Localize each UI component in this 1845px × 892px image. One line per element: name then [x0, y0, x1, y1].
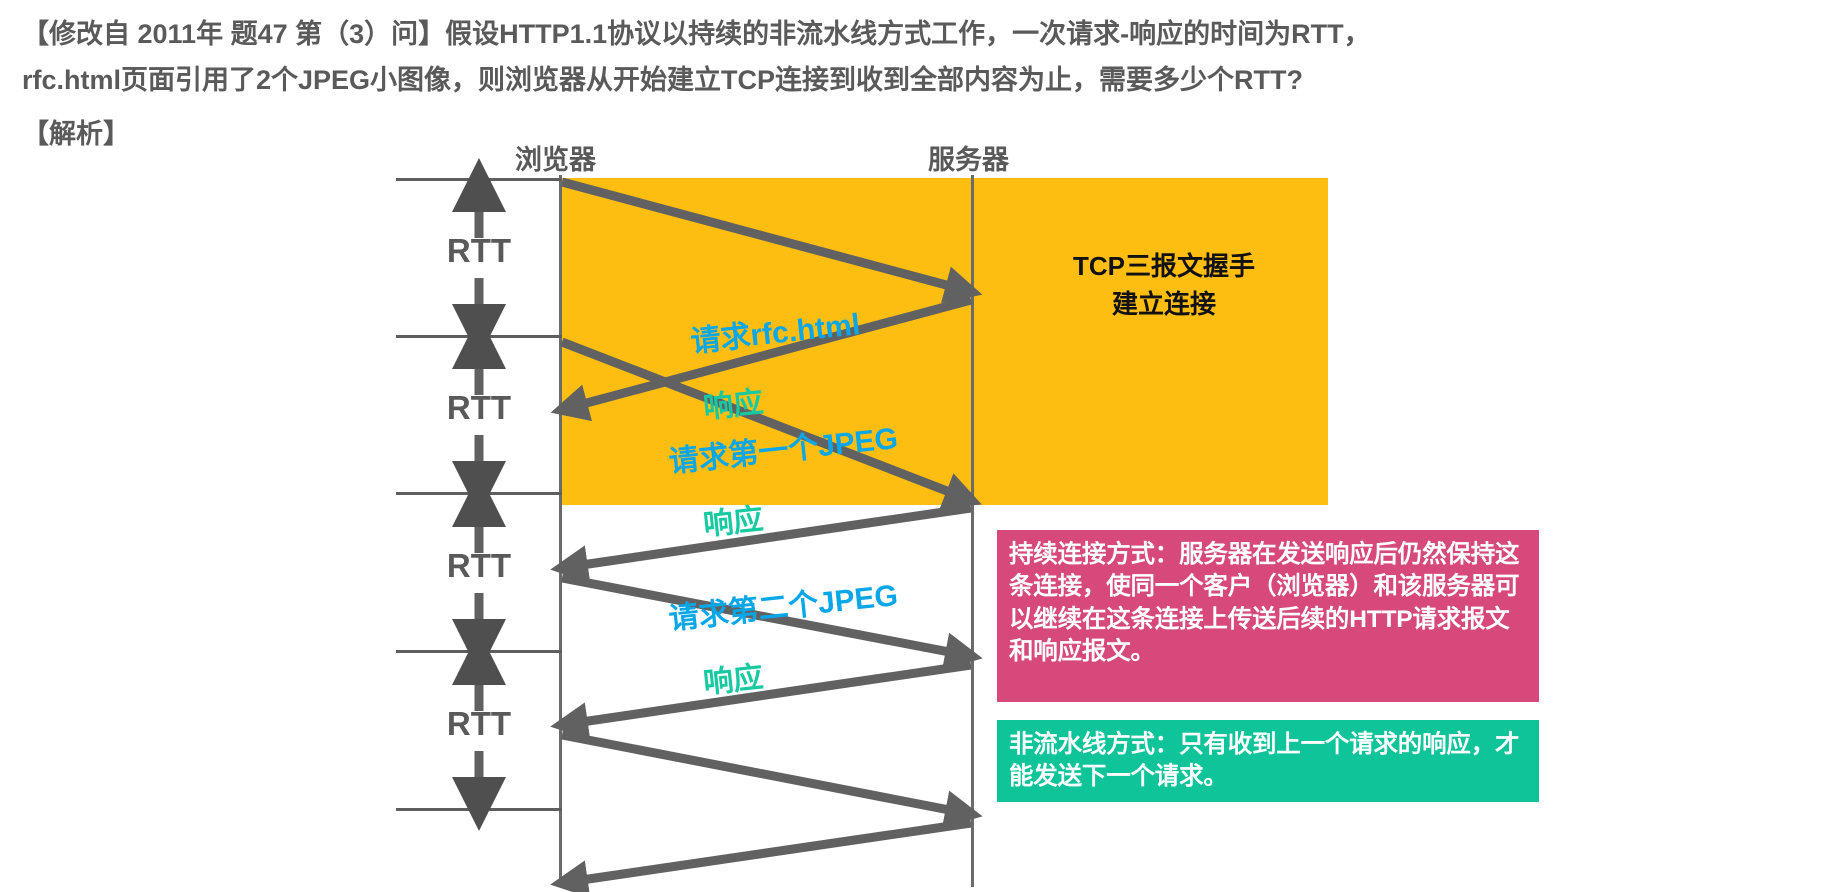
question-line-1: 【修改自 2011年 题47 第（3）问】假设HTTP1.1协议以持续的非流水线… — [22, 12, 1371, 51]
message-label-response-3: 响应 — [701, 652, 765, 702]
message-label-response-1: 响应 — [701, 377, 765, 427]
note-non-pipelined: 非流水线方式：只有收到上一个请求的响应，才能发送下一个请求。 — [997, 720, 1539, 802]
message-label-response-2: 响应 — [701, 494, 765, 544]
rtt-measure-arrows — [0, 130, 1845, 892]
question-line-2: rfc.html页面引用了2个JPEG小图像，则浏览器从开始建立TCP连接到收到… — [22, 58, 1303, 97]
rtt-label-3: RTT — [419, 547, 539, 585]
sequence-diagram: TCP三报文握手 建立连接 浏览器 服务器 — [0, 130, 1845, 892]
rtt-label-4: RTT — [419, 705, 539, 743]
note-persistent-connection: 持续连接方式：服务器在发送响应后仍然保持这条连接，使同一个客户（浏览器）和该服务… — [997, 530, 1539, 702]
slide-canvas: 【修改自 2011年 题47 第（3）问】假设HTTP1.1协议以持续的非流水线… — [0, 0, 1845, 892]
rtt-label-2: RTT — [419, 389, 539, 427]
rtt-label-1: RTT — [419, 232, 539, 270]
